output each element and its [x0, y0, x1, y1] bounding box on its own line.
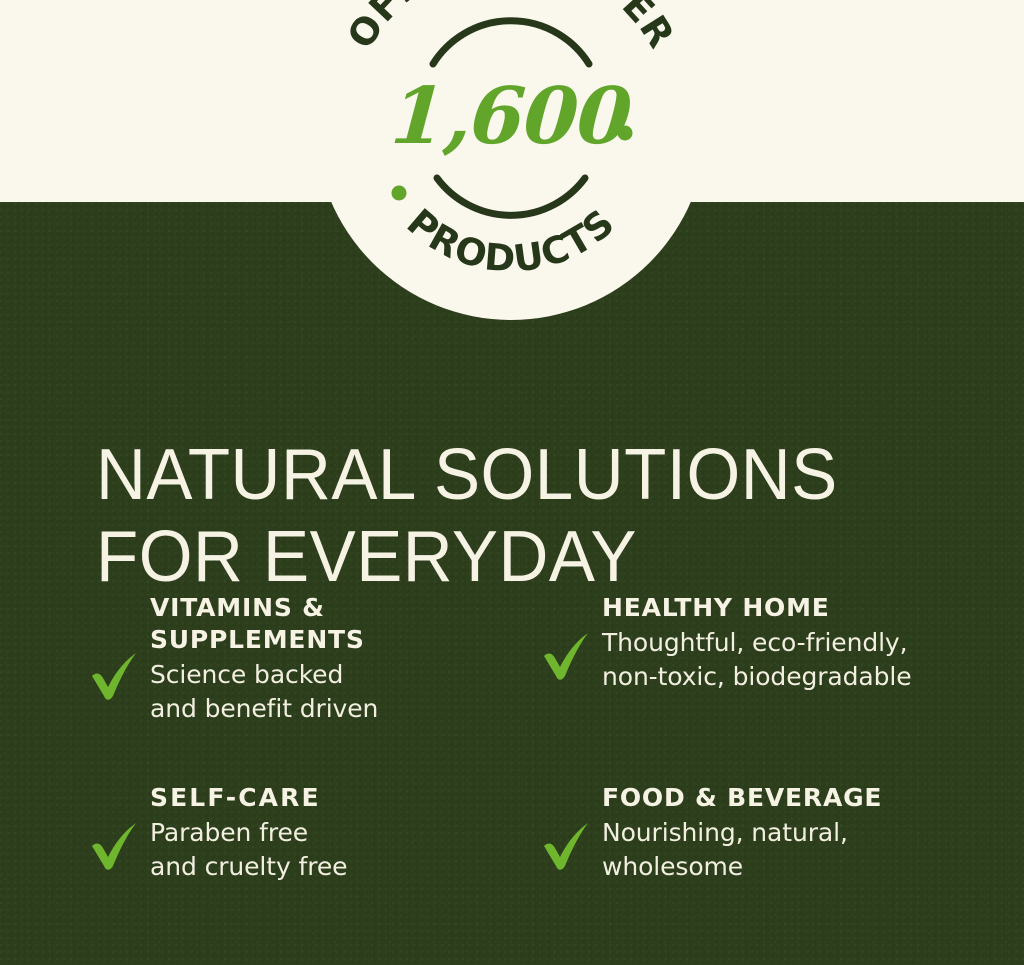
check-icon — [86, 810, 142, 874]
badge-product-count: 1,600 — [312, 78, 709, 156]
check-icon — [538, 620, 594, 684]
feature-description: Paraben free and cruelty free — [150, 816, 347, 885]
feature-item-self-care: SELF-CARE Paraben free and cruelty free — [86, 782, 538, 884]
feature-desc-line-1: Thoughtful, eco-friendly, — [602, 626, 912, 660]
feature-desc-line-2: and cruelty free — [150, 850, 347, 884]
feature-title-line-2: SUPPLEMENTS — [150, 625, 365, 654]
badge-top-arc-textpath: OFFERING OVER — [339, 0, 683, 56]
feature-title-line-1: VITAMINS & — [150, 593, 325, 622]
feature-description: Science backed and benefit driven — [150, 658, 378, 727]
feature-desc-line-2: and benefit driven — [150, 692, 378, 726]
feature-title-line-1: FOOD & BEVERAGE — [602, 783, 882, 812]
feature-description: Nourishing, natural, wholesome — [602, 816, 882, 885]
feature-item-food-beverage: FOOD & BEVERAGE Nourishing, natural, who… — [538, 782, 986, 884]
feature-body: HEALTHY HOME Thoughtful, eco-friendly, n… — [602, 592, 912, 694]
badge-arc-lower-icon — [437, 178, 585, 215]
badge-dot-left-icon — [392, 186, 407, 201]
page-title: NATURAL SOLUTIONS FOR EVERYDAY — [96, 434, 941, 598]
feature-item-vitamins-supplements: VITAMINS & SUPPLEMENTS Science backed an… — [86, 592, 538, 726]
feature-description: Thoughtful, eco-friendly, non-toxic, bio… — [602, 626, 912, 695]
check-icon — [538, 810, 594, 874]
feature-title-line-1: SELF-CARE — [150, 783, 321, 812]
feature-desc-line-1: Paraben free — [150, 816, 347, 850]
feature-body: FOOD & BEVERAGE Nourishing, natural, who… — [602, 782, 882, 884]
feature-title-line-1: HEALTHY HOME — [602, 593, 830, 622]
feature-title: SELF-CARE — [150, 782, 347, 814]
check-icon — [86, 640, 142, 704]
offering-badge: OFFERING OVER PRODUCTS 1,600 — [315, 0, 707, 320]
feature-title: FOOD & BEVERAGE — [602, 782, 882, 814]
feature-title: VITAMINS & SUPPLEMENTS — [150, 592, 378, 656]
promo-banner: OFFERING OVER PRODUCTS 1,600 NATURAL SOL… — [0, 0, 1024, 965]
feature-desc-line-1: Science backed — [150, 658, 378, 692]
badge-top-arc-text: OFFERING OVER — [339, 0, 683, 56]
feature-desc-line-1: Nourishing, natural, — [602, 816, 882, 850]
headline-line-1: NATURAL SOLUTIONS — [96, 434, 941, 516]
feature-desc-line-2: non-toxic, biodegradable — [602, 660, 912, 694]
feature-body: VITAMINS & SUPPLEMENTS Science backed an… — [150, 592, 378, 726]
feature-body: SELF-CARE Paraben free and cruelty free — [150, 782, 347, 884]
feature-item-healthy-home: HEALTHY HOME Thoughtful, eco-friendly, n… — [538, 592, 986, 726]
feature-title: HEALTHY HOME — [602, 592, 912, 624]
headline-line-2: FOR EVERYDAY — [96, 516, 941, 598]
feature-desc-line-2: wholesome — [602, 850, 882, 884]
feature-list: VITAMINS & SUPPLEMENTS Science backed an… — [86, 592, 986, 884]
badge-arc-upper-icon — [433, 21, 589, 64]
